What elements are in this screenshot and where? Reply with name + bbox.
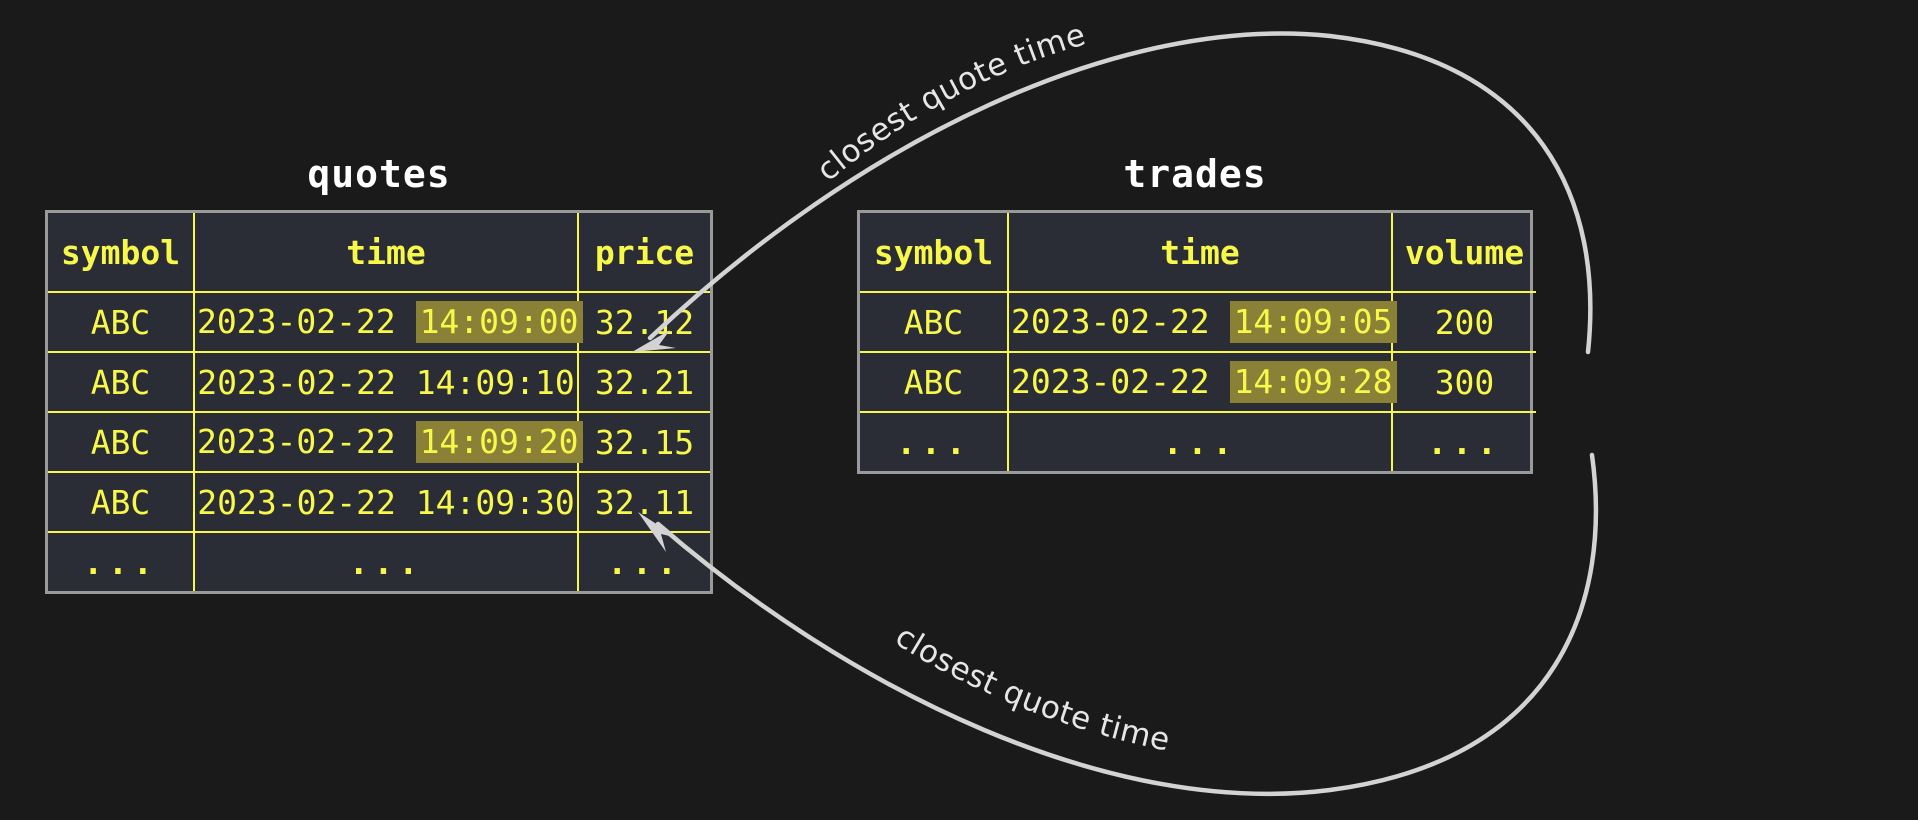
- quotes-ellipsis-symbol: ...: [48, 532, 194, 591]
- quotes-cell-time: 2023-02-22 14:09:20: [194, 412, 578, 472]
- quotes-cell-time: 2023-02-22 14:09:30: [194, 472, 578, 532]
- trades-table-block: trades symbol time volume ABC: [857, 152, 1533, 474]
- table-row: ABC 2023-02-22 14:09:30 32.11: [48, 472, 710, 532]
- quotes-cell-time-highlight: 14:09:00: [416, 301, 583, 343]
- quotes-ellipsis-time: ...: [194, 532, 578, 591]
- table-row: ABC 2023-02-22 14:09:05 200: [860, 292, 1536, 352]
- quotes-cell-date: 2023-02-22: [197, 363, 396, 402]
- quotes-cell-date: 2023-02-22: [197, 422, 396, 461]
- quotes-cell-symbol: ABC: [48, 352, 194, 412]
- quotes-cell-date: 2023-02-22: [197, 302, 396, 341]
- trades-ellipsis-time: ...: [1008, 412, 1392, 471]
- quotes-cell-price: 32.15: [578, 412, 710, 472]
- quotes-cell-time: 2023-02-22 14:09:10: [194, 352, 578, 412]
- quotes-col-header-time: time: [194, 213, 578, 292]
- trades-cell-volume: 300: [1392, 352, 1536, 412]
- quotes-header-row: symbol time price: [48, 213, 710, 292]
- table-row: ABC 2023-02-22 14:09:28 300: [860, 352, 1536, 412]
- quotes-cell-price: 32.11: [578, 472, 710, 532]
- quotes-col-header-price: price: [578, 213, 710, 292]
- quotes-table-frame: symbol time price ABC 2023-02-22 14:09:0…: [45, 210, 713, 594]
- table-row: ABC 2023-02-22 14:09:10 32.21: [48, 352, 710, 412]
- table-row: ABC 2023-02-22 14:09:20 32.15: [48, 412, 710, 472]
- trades-table-frame: symbol time volume ABC 2023-02-22 14:09:…: [857, 210, 1533, 474]
- quotes-table: symbol time price ABC 2023-02-22 14:09:0…: [48, 213, 710, 591]
- quotes-cell-date: 2023-02-22: [197, 483, 396, 522]
- quotes-cell-symbol: ABC: [48, 472, 194, 532]
- trades-col-header-time: time: [1008, 213, 1392, 292]
- quotes-cell-time: 2023-02-22 14:09:00: [194, 292, 578, 352]
- quotes-cell-time-value: 14:09:30: [416, 483, 575, 522]
- quotes-cell-symbol: ABC: [48, 292, 194, 352]
- quotes-ellipsis-price: ...: [578, 532, 710, 591]
- lower-curve-label-text: closest quote time: [889, 618, 1173, 758]
- lower-curve-label: closest quote time: [889, 618, 1173, 758]
- trades-cell-date: 2023-02-22: [1011, 302, 1210, 341]
- trades-header-row: symbol time volume: [860, 213, 1536, 292]
- trades-table-title: trades: [857, 152, 1533, 196]
- table-row: ABC 2023-02-22 14:09:00 32.12: [48, 292, 710, 352]
- trades-cell-symbol: ABC: [860, 292, 1008, 352]
- quotes-table-block: quotes symbol time price ABC: [45, 152, 713, 594]
- trades-cell-volume: 200: [1392, 292, 1536, 352]
- quotes-col-header-symbol: symbol: [48, 213, 194, 292]
- quotes-cell-price: 32.21: [578, 352, 710, 412]
- quotes-cell-symbol: ABC: [48, 412, 194, 472]
- table-row-ellipsis: ... ... ...: [860, 412, 1536, 471]
- trades-ellipsis-symbol: ...: [860, 412, 1008, 471]
- quotes-cell-time-highlight: 14:09:20: [416, 421, 583, 463]
- quotes-table-title: quotes: [45, 152, 713, 196]
- trades-cell-time-highlight: 14:09:28: [1230, 361, 1397, 403]
- diagram-canvas: quotes symbol time price ABC: [0, 0, 1918, 820]
- quotes-cell-time-value: 14:09:10: [416, 363, 575, 402]
- trades-cell-time: 2023-02-22 14:09:28: [1008, 352, 1392, 412]
- trades-col-header-symbol: symbol: [860, 213, 1008, 292]
- table-row-ellipsis: ... ... ...: [48, 532, 710, 591]
- trades-col-header-volume: volume: [1392, 213, 1536, 292]
- trades-cell-time-highlight: 14:09:05: [1230, 301, 1397, 343]
- quotes-cell-price: 32.12: [578, 292, 710, 352]
- trades-table: symbol time volume ABC 2023-02-22 14:09:…: [860, 213, 1536, 471]
- trades-ellipsis-volume: ...: [1392, 412, 1536, 471]
- trades-cell-date: 2023-02-22: [1011, 362, 1210, 401]
- trades-cell-symbol: ABC: [860, 352, 1008, 412]
- closest-quote-time-lower-curve: [658, 455, 1596, 794]
- trades-cell-time: 2023-02-22 14:09:05: [1008, 292, 1392, 352]
